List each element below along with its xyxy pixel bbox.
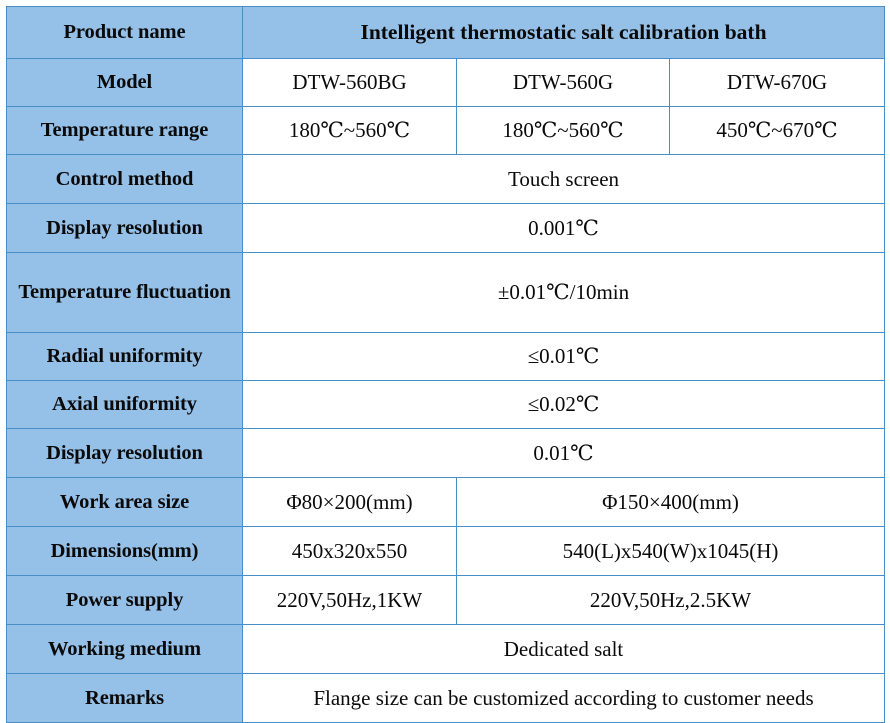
row-value-remarks: Flange size can be customized according … — [243, 674, 885, 723]
table-row: Work area size Φ80×200(mm) Φ150×400(mm) — [7, 478, 885, 527]
row-value-power-supply-2: 220V,50Hz,2.5KW — [457, 576, 885, 625]
row-value-model-3: DTW-670G — [670, 59, 885, 107]
table-row: Temperature fluctuation ±0.01℃/10min — [7, 253, 885, 333]
row-label-remarks: Remarks — [7, 674, 243, 723]
row-value-temperature-range-2: 180℃~560℃ — [457, 107, 670, 155]
row-value-model-1: DTW-560BG — [243, 59, 457, 107]
row-label-control-method: Control method — [7, 155, 243, 204]
row-value-power-supply-1: 220V,50Hz,1KW — [243, 576, 457, 625]
row-label-display-resolution-1: Display resolution — [7, 204, 243, 253]
row-value-display-resolution-2: 0.01℃ — [243, 429, 885, 478]
table-row: Dimensions(mm) 450x320x550 540(L)x540(W)… — [7, 527, 885, 576]
row-value-temperature-fluctuation: ±0.01℃/10min — [243, 253, 885, 333]
row-value-radial-uniformity: ≤0.01℃ — [243, 333, 885, 381]
row-label-dimensions: Dimensions(mm) — [7, 527, 243, 576]
row-value-working-medium: Dedicated salt — [243, 625, 885, 674]
table-row: Radial uniformity ≤0.01℃ — [7, 333, 885, 381]
row-label-temperature-fluctuation: Temperature fluctuation — [7, 253, 243, 333]
table-row: Axial uniformity ≤0.02℃ — [7, 381, 885, 429]
table-row: Display resolution 0.001℃ — [7, 204, 885, 253]
table-row: Temperature range 180℃~560℃ 180℃~560℃ 45… — [7, 107, 885, 155]
row-label-work-area-size: Work area size — [7, 478, 243, 527]
row-label-product-name: Product name — [7, 7, 243, 59]
row-value-work-area-size-1: Φ80×200(mm) — [243, 478, 457, 527]
row-label-axial-uniformity: Axial uniformity — [7, 381, 243, 429]
product-spec-table: Product name Intelligent thermostatic sa… — [6, 6, 885, 723]
row-label-radial-uniformity: Radial uniformity — [7, 333, 243, 381]
row-value-dimensions-1: 450x320x550 — [243, 527, 457, 576]
row-value-temperature-range-3: 450℃~670℃ — [670, 107, 885, 155]
row-value-model-2: DTW-560G — [457, 59, 670, 107]
table-row: Working medium Dedicated salt — [7, 625, 885, 674]
spec-table-container: Product name Intelligent thermostatic sa… — [0, 0, 890, 720]
row-label-display-resolution-2: Display resolution — [7, 429, 243, 478]
table-row: Display resolution 0.01℃ — [7, 429, 885, 478]
row-value-work-area-size-2: Φ150×400(mm) — [457, 478, 885, 527]
table-row: Product name Intelligent thermostatic sa… — [7, 7, 885, 59]
row-label-working-medium: Working medium — [7, 625, 243, 674]
table-row: Remarks Flange size can be customized ac… — [7, 674, 885, 723]
table-row: Power supply 220V,50Hz,1KW 220V,50Hz,2.5… — [7, 576, 885, 625]
table-row: Model DTW-560BG DTW-560G DTW-670G — [7, 59, 885, 107]
row-label-model: Model — [7, 59, 243, 107]
row-value-product-name: Intelligent thermostatic salt calibratio… — [243, 7, 885, 59]
row-value-display-resolution-1: 0.001℃ — [243, 204, 885, 253]
row-value-control-method: Touch screen — [243, 155, 885, 204]
row-label-temperature-range: Temperature range — [7, 107, 243, 155]
row-value-dimensions-2: 540(L)x540(W)x1045(H) — [457, 527, 885, 576]
row-label-power-supply: Power supply — [7, 576, 243, 625]
row-value-axial-uniformity: ≤0.02℃ — [243, 381, 885, 429]
row-value-temperature-range-1: 180℃~560℃ — [243, 107, 457, 155]
table-row: Control method Touch screen — [7, 155, 885, 204]
